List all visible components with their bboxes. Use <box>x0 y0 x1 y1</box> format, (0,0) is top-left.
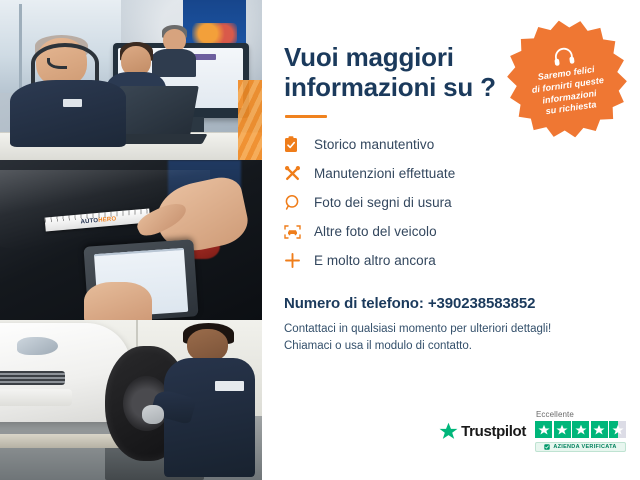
rating-stars <box>535 421 626 438</box>
phone-description-line-1: Contattaci in qualsiasi momento per ulte… <box>284 321 584 338</box>
feature-label: Foto dei segni di usura <box>314 195 452 210</box>
feature-label: Manutenzioni effettuate <box>314 166 455 181</box>
badge-text: Saremo felici di fornirti queste informa… <box>520 62 617 122</box>
headlight <box>17 337 58 355</box>
clipboard-check-icon <box>284 135 314 155</box>
headline-line-1: Vuoi maggiori <box>284 42 499 72</box>
brand-suffix: HERO <box>98 216 117 224</box>
badge-content: Saremo felici di fornirti queste informa… <box>500 12 633 145</box>
car-frame-icon <box>284 222 314 242</box>
feature-label: E molto altro ancora <box>314 253 436 268</box>
name-badge <box>63 99 81 107</box>
trustpilot-star-icon <box>439 422 458 441</box>
bumper <box>0 389 72 407</box>
star-tile-4 <box>591 421 608 438</box>
feature-list: Storico manutentivo Manutenzioni effettu… <box>284 132 640 273</box>
feature-item-service-history: Storico manutentivo <box>284 132 640 157</box>
verified-company-badge: AZIENDA VERIFICATA <box>535 442 626 452</box>
feature-item-more-photos: Altre foto del veicolo <box>284 219 640 244</box>
work-glove <box>142 405 165 425</box>
inspector-hand-lower <box>84 282 152 320</box>
feature-item-wear-photos: Foto dei segni di usura <box>284 190 640 215</box>
photo-column: AUTOHERO <box>0 0 262 480</box>
tools-wrench-icon <box>284 164 314 184</box>
phone-description-line-2: Chiamaci o usa il modulo di contatto. <box>284 338 584 355</box>
headset-band <box>31 43 99 84</box>
headline-line-2: informazioni su ? <box>284 72 499 102</box>
rating-label: Eccellente <box>536 410 574 419</box>
title-divider <box>285 115 327 118</box>
uniform-logo <box>215 381 243 392</box>
foreground-agent <box>10 38 125 147</box>
plus-icon <box>284 251 314 271</box>
feature-item-more: E molto altro ancora <box>284 248 640 273</box>
callout-badge: Saremo felici di fornirti queste informa… <box>500 12 633 145</box>
info-banner: AUTOHERO <box>0 0 640 480</box>
feature-item-maintenance-done: Manutenzioni effettuate <box>284 161 640 186</box>
page-title: Vuoi maggiori informazioni su ? <box>284 42 499 102</box>
inspection-photo: AUTOHERO <box>0 160 262 320</box>
technician <box>162 326 256 476</box>
workshop-photo <box>0 320 262 480</box>
trustpilot-block[interactable]: Trustpilot Eccellente <box>439 410 626 452</box>
feature-label: Altre foto del veicolo <box>314 224 437 239</box>
star-tile-2 <box>554 421 571 438</box>
trustpilot-wordmark: Trustpilot <box>461 423 526 440</box>
trustpilot-rating: Eccellente <box>535 410 626 452</box>
verified-check-icon <box>544 444 550 450</box>
feature-label: Storico manutentivo <box>314 137 434 152</box>
magnifier-icon <box>284 193 314 213</box>
trustpilot-logo[interactable]: Trustpilot <box>439 422 526 441</box>
phone-number[interactable]: Numero di telefono: +390238583852 <box>284 295 640 312</box>
star-tile-1 <box>535 421 552 438</box>
headset-icon <box>552 46 576 68</box>
orange-banner-strip <box>238 80 262 160</box>
star-tile-3 <box>572 421 589 438</box>
brand-prefix: AUTO <box>80 217 98 225</box>
headset-mic <box>47 58 67 69</box>
star-tile-5-half <box>609 421 626 438</box>
content-panel: Vuoi maggiori informazioni su ? Storico … <box>262 0 640 480</box>
torso <box>10 80 125 147</box>
phone-description: Contattaci in qualsiasi momento per ulte… <box>284 321 584 354</box>
verified-label: AZIENDA VERIFICATA <box>553 444 616 450</box>
call-center-photo <box>0 0 262 160</box>
grille <box>0 371 65 385</box>
phone-block: Numero di telefono: +390238583852 Contat… <box>284 295 640 354</box>
